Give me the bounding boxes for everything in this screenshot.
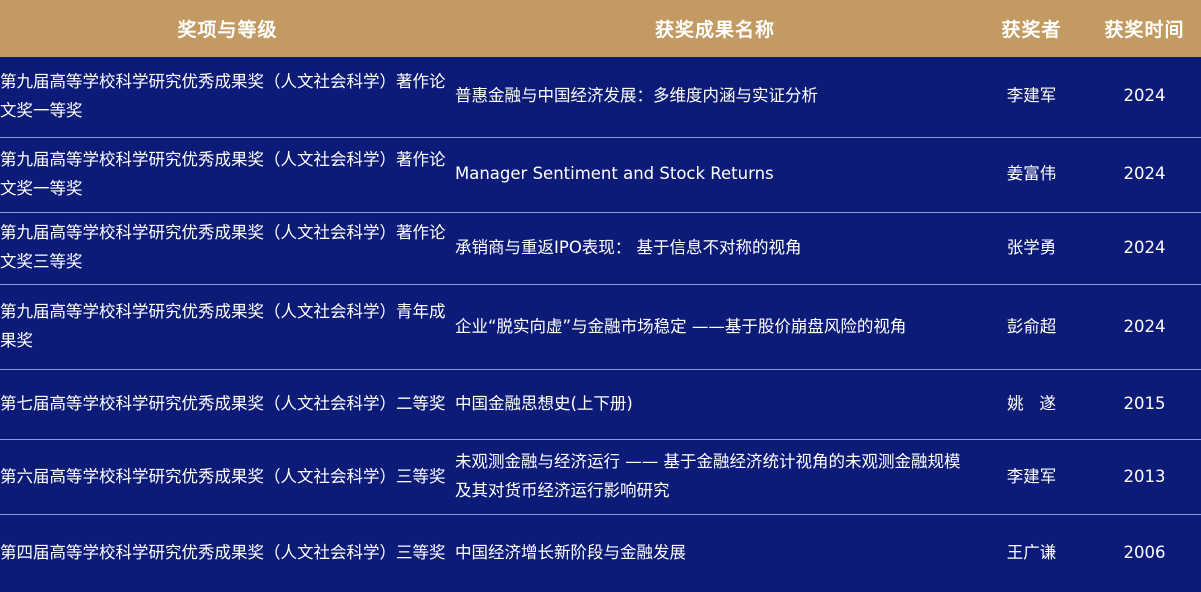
column-header-person: 获奖者	[975, 0, 1088, 57]
cell-year: 2013	[1088, 440, 1201, 515]
cell-person: 李建军	[975, 57, 1088, 137]
cell-person: 张学勇	[975, 212, 1088, 284]
cell-year: 2006	[1088, 515, 1201, 592]
cell-award: 第九届高等学校科学研究优秀成果奖（人文社会科学）著作论文奖一等奖	[0, 137, 455, 212]
table-row: 第六届高等学校科学研究优秀成果奖（人文社会科学）三等奖 未观测金融与经济运行 —…	[0, 440, 1201, 515]
cell-title: 企业“脱实向虚”与金融市场稳定 ——基于股价崩盘风险的视角	[455, 284, 975, 369]
table-header: 奖项与等级 获奖成果名称 获奖者 获奖时间	[0, 0, 1201, 57]
cell-title: 承销商与重返IPO表现： 基于信息不对称的视角	[455, 212, 975, 284]
table-row: 第四届高等学校科学研究优秀成果奖（人文社会科学）三等奖 中国经济增长新阶段与金融…	[0, 515, 1201, 592]
cell-person: 姚 遂	[975, 370, 1088, 440]
award-table: 奖项与等级 获奖成果名称 获奖者 获奖时间 第九届高等学校科学研究优秀成果奖（人…	[0, 0, 1201, 592]
cell-title: 未观测金融与经济运行 —— 基于金融经济统计视角的未观测金融规模及其对货币经济运…	[455, 440, 975, 515]
cell-title: 中国金融思想史(上下册)	[455, 370, 975, 440]
cell-person: 彭俞超	[975, 284, 1088, 369]
cell-award: 第九届高等学校科学研究优秀成果奖（人文社会科学）著作论文奖一等奖	[0, 57, 455, 137]
table-body: 第九届高等学校科学研究优秀成果奖（人文社会科学）著作论文奖一等奖 普惠金融与中国…	[0, 57, 1201, 592]
table-row: 第九届高等学校科学研究优秀成果奖（人文社会科学）著作论文奖一等奖 普惠金融与中国…	[0, 57, 1201, 137]
column-header-award: 奖项与等级	[0, 0, 455, 57]
cell-award: 第六届高等学校科学研究优秀成果奖（人文社会科学）三等奖	[0, 440, 455, 515]
cell-person: 李建军	[975, 440, 1088, 515]
column-header-title: 获奖成果名称	[455, 0, 975, 57]
cell-person: 王广谦	[975, 515, 1088, 592]
cell-award: 第四届高等学校科学研究优秀成果奖（人文社会科学）三等奖	[0, 515, 455, 592]
cell-person: 姜富伟	[975, 137, 1088, 212]
table-row: 第九届高等学校科学研究优秀成果奖（人文社会科学）著作论文奖一等奖 Manager…	[0, 137, 1201, 212]
cell-award: 第九届高等学校科学研究优秀成果奖（人文社会科学）青年成果奖	[0, 284, 455, 369]
column-header-year: 获奖时间	[1088, 0, 1201, 57]
cell-award: 第九届高等学校科学研究优秀成果奖（人文社会科学）著作论文奖三等奖	[0, 212, 455, 284]
cell-title: 普惠金融与中国经济发展：多维度内涵与实证分析	[455, 57, 975, 137]
cell-year: 2024	[1088, 137, 1201, 212]
table-header-row: 奖项与等级 获奖成果名称 获奖者 获奖时间	[0, 0, 1201, 57]
cell-award: 第七届高等学校科学研究优秀成果奖（人文社会科学）二等奖	[0, 370, 455, 440]
table-row: 第九届高等学校科学研究优秀成果奖（人文社会科学）著作论文奖三等奖 承销商与重返I…	[0, 212, 1201, 284]
table-row: 第九届高等学校科学研究优秀成果奖（人文社会科学）青年成果奖 企业“脱实向虚”与金…	[0, 284, 1201, 369]
cell-year: 2024	[1088, 284, 1201, 369]
cell-title: 中国经济增长新阶段与金融发展	[455, 515, 975, 592]
table-row: 第七届高等学校科学研究优秀成果奖（人文社会科学）二等奖 中国金融思想史(上下册)…	[0, 370, 1201, 440]
cell-year: 2015	[1088, 370, 1201, 440]
cell-title: Manager Sentiment and Stock Returns	[455, 137, 975, 212]
cell-year: 2024	[1088, 212, 1201, 284]
cell-year: 2024	[1088, 57, 1201, 137]
